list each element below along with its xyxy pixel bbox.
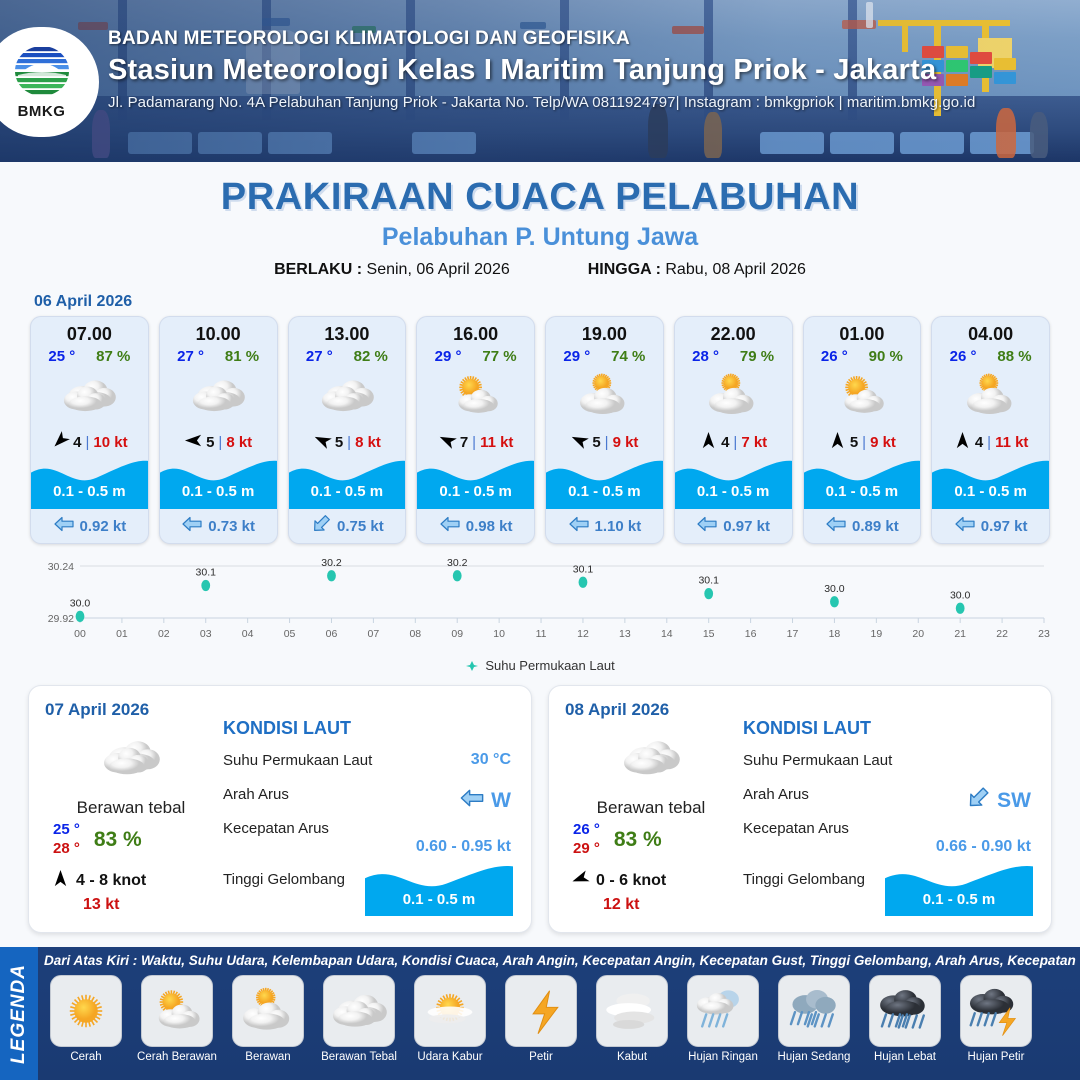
svg-text:20: 20 bbox=[912, 628, 924, 640]
daily-panel[interactable]: 08 April 2026 Berawan tebal 26 ° bbox=[548, 685, 1052, 933]
page-header: BMKG BADAN METEOROLOGI KLIMATOLOGI DAN G… bbox=[0, 0, 1080, 162]
card-temperature: 27 ° bbox=[177, 348, 204, 365]
legend-icon-kabut bbox=[596, 975, 668, 1047]
legend-item: Hujan Petir bbox=[954, 975, 1038, 1080]
card-temperature: 29 ° bbox=[563, 348, 590, 365]
daily-temp-max: 28 ° bbox=[53, 840, 80, 859]
sst-value: 30 °C bbox=[471, 751, 511, 769]
current-direction-label: Arah Arus bbox=[223, 786, 289, 803]
card-wind-row: 5 | 8 kt bbox=[160, 427, 277, 457]
card-wind-row: 4 | 7 kt bbox=[675, 427, 792, 457]
card-wind-speed: 5 bbox=[850, 434, 858, 451]
card-wind-speed: 5 bbox=[206, 434, 214, 451]
card-wind-row: 5 | 9 kt bbox=[546, 427, 663, 457]
current-direction-arrow-icon bbox=[965, 785, 991, 816]
card-current-row: 0.75 kt bbox=[289, 509, 406, 543]
wind-direction-arrow-icon bbox=[51, 431, 70, 454]
legend-item-label: Hujan Lebat bbox=[874, 1051, 936, 1063]
card-gust: 8 kt bbox=[226, 434, 252, 451]
legend-icon-hujan-petir bbox=[960, 975, 1032, 1047]
card-wave-height: 0.1 - 0.5 m bbox=[675, 483, 792, 500]
daily-temp-range: 26 ° 29 ° bbox=[573, 821, 600, 859]
card-weather-icon-berawan bbox=[675, 365, 792, 427]
svg-text:15: 15 bbox=[703, 628, 715, 640]
sea-conditions-title: KONDISI LAUT bbox=[223, 718, 515, 739]
card-current-row: 1.10 kt bbox=[546, 509, 663, 543]
wind-direction-arrow-icon bbox=[953, 431, 972, 454]
wind-direction-arrow-icon bbox=[699, 431, 718, 454]
card-wave-height: 0.1 - 0.5 m bbox=[160, 483, 277, 500]
daily-date: 07 April 2026 bbox=[45, 700, 217, 720]
card-temperature: 29 ° bbox=[435, 348, 462, 365]
card-current-row: 0.73 kt bbox=[160, 509, 277, 543]
wind-direction-arrow-icon bbox=[313, 431, 332, 454]
daily-temp-group: 25 ° 28 ° 83 % bbox=[45, 821, 217, 859]
daily-humidity: 83 % bbox=[614, 828, 662, 852]
card-time: 19.00 bbox=[546, 317, 663, 345]
current-speed-value: 0.60 - 0.95 kt bbox=[416, 838, 511, 856]
current-speed-row: Kecepatan Arus 0.60 - 0.95 kt bbox=[223, 820, 515, 841]
card-wave-height: 0.1 - 0.5 m bbox=[417, 483, 534, 500]
wind-separator: | bbox=[347, 434, 351, 451]
legend-item: Hujan Sedang bbox=[772, 975, 856, 1080]
svg-text:06: 06 bbox=[326, 628, 338, 640]
legend-item-label: Hujan Sedang bbox=[778, 1051, 851, 1063]
legend-icon-petir bbox=[505, 975, 577, 1047]
daily-weather-icon-berawan-tebal bbox=[45, 728, 217, 788]
card-humidity: 90 % bbox=[869, 348, 903, 365]
current-speed-label: Kecepatan Arus bbox=[743, 820, 849, 837]
bmkg-logo-text: BMKG bbox=[18, 103, 66, 120]
svg-text:30.2: 30.2 bbox=[447, 557, 468, 569]
card-current-speed: 0.97 kt bbox=[981, 518, 1028, 535]
wind-separator: | bbox=[85, 434, 89, 451]
legend-item: Berawan Tebal bbox=[317, 975, 401, 1080]
card-wave-height: 0.1 - 0.5 m bbox=[932, 483, 1049, 500]
legend-item-label: Berawan bbox=[245, 1051, 290, 1063]
forecast-card[interactable]: 07.00 25 ° 87 % 4 bbox=[30, 316, 149, 544]
forecast-date-label: 06 April 2026 bbox=[34, 293, 1080, 311]
svg-text:23: 23 bbox=[1038, 628, 1050, 640]
daily-wind-row: 4 - 8 knot bbox=[45, 869, 217, 893]
current-speed-label: Kecepatan Arus bbox=[223, 820, 329, 837]
wind-direction-arrow-icon bbox=[51, 869, 70, 893]
card-wave-block: 0.1 - 0.5 m bbox=[31, 457, 148, 509]
legend-item-label: Kabut bbox=[617, 1051, 647, 1063]
hingga-group: HINGGA : Rabu, 08 April 2026 bbox=[588, 261, 806, 279]
card-humidity: 82 % bbox=[354, 348, 388, 365]
daily-condition: Berawan tebal bbox=[45, 798, 217, 818]
legend-icon-list: Cerah Cerah Berawan bbox=[40, 975, 1080, 1080]
daily-condition: Berawan tebal bbox=[565, 798, 737, 818]
wind-separator: | bbox=[218, 434, 222, 451]
card-current-row: 0.98 kt bbox=[417, 509, 534, 543]
berlaku-label: BERLAKU : bbox=[274, 261, 362, 278]
svg-text:04: 04 bbox=[242, 628, 254, 640]
legend-note: Dari Atas Kiri : Waktu, Suhu Udara, Kele… bbox=[44, 953, 1076, 968]
card-temperature: 26 ° bbox=[950, 348, 977, 365]
svg-text:13: 13 bbox=[619, 628, 631, 640]
svg-text:30.0: 30.0 bbox=[70, 597, 91, 609]
card-weather-icon-berawan-tebal bbox=[160, 365, 277, 427]
svg-text:29.92: 29.92 bbox=[48, 613, 74, 625]
card-wind-speed: 7 bbox=[460, 434, 468, 451]
card-time: 10.00 bbox=[160, 317, 277, 345]
card-weather-icon-cerah-berawan bbox=[804, 365, 921, 427]
svg-text:00: 00 bbox=[74, 628, 86, 640]
card-wind-row: 4 | 11 kt bbox=[932, 427, 1049, 457]
current-direction-arrow-icon bbox=[825, 513, 847, 539]
svg-text:30.2: 30.2 bbox=[321, 557, 342, 569]
card-time: 16.00 bbox=[417, 317, 534, 345]
card-gust: 10 kt bbox=[93, 434, 127, 451]
card-wind-row: 5 | 8 kt bbox=[289, 427, 406, 457]
hingga-value: Rabu, 08 April 2026 bbox=[665, 261, 806, 278]
card-temp-humidity: 29 ° 77 % bbox=[417, 345, 534, 365]
daily-gust: 13 kt bbox=[45, 896, 217, 914]
card-temp-humidity: 28 ° 79 % bbox=[675, 345, 792, 365]
legend-item: Hujan Ringan bbox=[681, 975, 765, 1080]
card-weather-icon-berawan bbox=[932, 365, 1049, 427]
card-time: 01.00 bbox=[804, 317, 921, 345]
card-wind-speed: 4 bbox=[721, 434, 729, 451]
wind-separator: | bbox=[472, 434, 476, 451]
chart-legend: Suhu Permukaan Laut bbox=[0, 658, 1080, 673]
wind-separator: | bbox=[987, 434, 991, 451]
card-wave-block: 0.1 - 0.5 m bbox=[932, 457, 1049, 509]
current-speed-row: Kecepatan Arus 0.66 - 0.90 kt bbox=[743, 820, 1035, 841]
card-wave-block: 0.1 - 0.5 m bbox=[804, 457, 921, 509]
svg-text:12: 12 bbox=[577, 628, 589, 640]
legend-item: Udara Kabur bbox=[408, 975, 492, 1080]
legend-item-label: Petir bbox=[529, 1051, 553, 1063]
svg-text:16: 16 bbox=[745, 628, 757, 640]
card-temp-humidity: 26 ° 90 % bbox=[804, 345, 921, 365]
sst-row: Suhu Permukaan Laut bbox=[743, 752, 1035, 773]
card-current-row: 0.97 kt bbox=[932, 509, 1049, 543]
current-direction-arrow-icon bbox=[53, 513, 75, 539]
daily-temp-max: 29 ° bbox=[573, 840, 600, 859]
wind-separator: | bbox=[605, 434, 609, 451]
daily-date: 08 April 2026 bbox=[565, 700, 737, 720]
card-weather-icon-berawan bbox=[546, 365, 663, 427]
current-direction-row: Arah Arus SW bbox=[743, 786, 1035, 807]
agency-name: BADAN METEOROLOGI KLIMATOLOGI DAN GEOFIS… bbox=[108, 28, 1068, 50]
card-gust: 9 kt bbox=[613, 434, 639, 451]
wind-direction-arrow-icon bbox=[438, 431, 457, 454]
card-gust: 11 kt bbox=[995, 434, 1028, 451]
card-gust: 8 kt bbox=[355, 434, 381, 451]
svg-text:07: 07 bbox=[368, 628, 380, 640]
card-time: 07.00 bbox=[31, 317, 148, 345]
wave-height-label: Tinggi Gelombang bbox=[223, 871, 345, 888]
card-humidity: 74 % bbox=[611, 348, 645, 365]
wind-direction-arrow-icon bbox=[828, 431, 847, 454]
wind-direction-arrow-icon bbox=[570, 431, 589, 454]
card-current-speed: 0.97 kt bbox=[723, 518, 770, 535]
daily-humidity: 83 % bbox=[94, 828, 142, 852]
svg-text:18: 18 bbox=[829, 628, 841, 640]
card-wave-block: 0.1 - 0.5 m bbox=[289, 457, 406, 509]
sea-conditions-title: KONDISI LAUT bbox=[743, 718, 1035, 739]
card-temp-humidity: 25 ° 87 % bbox=[31, 345, 148, 365]
card-wind-speed: 4 bbox=[73, 434, 81, 451]
page-subtitle: Pelabuhan P. Untung Jawa bbox=[0, 223, 1080, 252]
daily-wave-block: 0.1 - 0.5 m bbox=[885, 862, 1033, 916]
current-direction-value-group: SW bbox=[965, 785, 1031, 816]
card-wind-row: 7 | 11 kt bbox=[417, 427, 534, 457]
card-humidity: 77 % bbox=[482, 348, 516, 365]
legend-item: Cerah bbox=[44, 975, 128, 1080]
current-direction-arrow-icon bbox=[310, 513, 332, 539]
svg-text:03: 03 bbox=[200, 628, 212, 640]
station-address: Jl. Padamarang No. 4A Pelabuhan Tanjung … bbox=[108, 94, 1068, 111]
sst-chart: 30.2429.92000102030405060708091011121314… bbox=[28, 556, 1052, 654]
card-time: 13.00 bbox=[289, 317, 406, 345]
card-current-speed: 0.75 kt bbox=[337, 518, 384, 535]
card-time: 04.00 bbox=[932, 317, 1049, 345]
card-wave-height: 0.1 - 0.5 m bbox=[546, 483, 663, 500]
card-humidity: 87 % bbox=[96, 348, 130, 365]
current-direction-value: SW bbox=[997, 789, 1031, 813]
legend-icon-berawan bbox=[232, 975, 304, 1047]
daily-temp-range: 25 ° 28 ° bbox=[53, 821, 80, 859]
legend-icon-udara-kabur bbox=[414, 975, 486, 1047]
card-weather-icon-berawan-tebal bbox=[31, 365, 148, 427]
card-current-row: 0.89 kt bbox=[804, 509, 921, 543]
daily-weather-icon-berawan-tebal bbox=[565, 728, 737, 788]
card-humidity: 81 % bbox=[225, 348, 259, 365]
svg-text:17: 17 bbox=[787, 628, 799, 640]
daily-panel[interactable]: 07 April 2026 Berawan tebal 25 ° bbox=[28, 685, 532, 933]
legend-item: Hujan Lebat bbox=[863, 975, 947, 1080]
current-direction-value: W bbox=[491, 789, 511, 813]
daily-sea-conditions: KONDISI LAUT Suhu Permukaan Laut Arah Ar… bbox=[737, 700, 1035, 920]
legend-item-label: Cerah Berawan bbox=[137, 1051, 217, 1063]
wind-direction-arrow-icon bbox=[184, 431, 203, 454]
card-gust: 11 kt bbox=[480, 434, 513, 451]
card-wave-block: 0.1 - 0.5 m bbox=[675, 457, 792, 509]
card-temp-humidity: 29 ° 74 % bbox=[546, 345, 663, 365]
sst-legend-marker-icon bbox=[465, 660, 479, 672]
svg-text:02: 02 bbox=[158, 628, 170, 640]
legend-item: Berawan bbox=[226, 975, 310, 1080]
current-direction-arrow-icon bbox=[439, 513, 461, 539]
card-temperature: 27 ° bbox=[306, 348, 333, 365]
card-gust: 7 kt bbox=[741, 434, 767, 451]
card-temp-humidity: 26 ° 88 % bbox=[932, 345, 1049, 365]
svg-text:21: 21 bbox=[954, 628, 966, 640]
legend-item-label: Hujan Ringan bbox=[688, 1051, 758, 1063]
card-weather-icon-berawan-tebal bbox=[289, 365, 406, 427]
forecast-card[interactable]: 16.00 29 ° 77 % 7 | 11 kt bbox=[416, 316, 535, 544]
card-humidity: 88 % bbox=[997, 348, 1031, 365]
legend-icon-hujan-sedang bbox=[778, 975, 850, 1047]
current-direction-arrow-icon bbox=[696, 513, 718, 539]
card-wind-speed: 4 bbox=[975, 434, 983, 451]
card-wave-block: 0.1 - 0.5 m bbox=[417, 457, 534, 509]
sst-row: Suhu Permukaan Laut 30 °C bbox=[223, 752, 515, 773]
berlaku-group: BERLAKU : Senin, 06 April 2026 bbox=[274, 261, 510, 279]
svg-text:10: 10 bbox=[493, 628, 505, 640]
svg-text:30.1: 30.1 bbox=[698, 575, 719, 587]
card-current-speed: 0.98 kt bbox=[466, 518, 513, 535]
card-wind-speed: 5 bbox=[592, 434, 600, 451]
wave-height-label: Tinggi Gelombang bbox=[743, 871, 865, 888]
legend-icon-hujan-ringan bbox=[687, 975, 759, 1047]
current-direction-arrow-icon bbox=[459, 785, 485, 816]
card-wind-speed: 5 bbox=[335, 434, 343, 451]
card-time: 22.00 bbox=[675, 317, 792, 345]
header-text-block: BADAN METEOROLOGI KLIMATOLOGI DAN GEOFIS… bbox=[108, 28, 1068, 111]
legend-icon-cerah-berawan bbox=[141, 975, 213, 1047]
card-temp-humidity: 27 ° 81 % bbox=[160, 345, 277, 365]
card-humidity: 79 % bbox=[740, 348, 774, 365]
svg-text:08: 08 bbox=[409, 628, 421, 640]
svg-text:19: 19 bbox=[871, 628, 883, 640]
sst-chart-svg: 30.2429.92000102030405060708091011121314… bbox=[28, 556, 1052, 648]
daily-wind-row: 0 - 6 knot bbox=[565, 869, 737, 893]
svg-text:30.24: 30.24 bbox=[48, 561, 74, 573]
sst-label: Suhu Permukaan Laut bbox=[223, 752, 372, 769]
forecast-card[interactable]: 01.00 26 ° 90 % 5 | 9 kt bbox=[803, 316, 922, 544]
card-current-speed: 0.92 kt bbox=[80, 518, 127, 535]
current-direction-label: Arah Arus bbox=[743, 786, 809, 803]
daily-wave-value: 0.1 - 0.5 m bbox=[365, 891, 513, 908]
legend-item-label: Udara Kabur bbox=[417, 1051, 482, 1063]
daily-wind-range: 0 - 6 knot bbox=[596, 872, 666, 890]
daily-wave-block: 0.1 - 0.5 m bbox=[365, 862, 513, 916]
wind-direction-arrow-icon bbox=[571, 869, 590, 893]
daily-wave-value: 0.1 - 0.5 m bbox=[885, 891, 1033, 908]
page-title: PRAKIRAAN CUACA PELABUHAN bbox=[0, 176, 1080, 219]
forecast-card[interactable]: 10.00 27 ° 81 % 5 bbox=[159, 316, 278, 544]
legend-item-label: Berawan Tebal bbox=[321, 1051, 397, 1063]
bmkg-logo-mark bbox=[12, 45, 72, 101]
card-temperature: 25 ° bbox=[48, 348, 75, 365]
legend-item-label: Cerah bbox=[70, 1051, 101, 1063]
card-gust: 9 kt bbox=[870, 434, 896, 451]
card-wind-row: 4 | 10 kt bbox=[31, 427, 148, 457]
chart-legend-label: Suhu Permukaan Laut bbox=[485, 658, 614, 673]
hourly-forecast-row: 07.00 25 ° 87 % 4 bbox=[0, 316, 1080, 544]
station-name: Stasiun Meteorologi Kelas I Maritim Tanj… bbox=[108, 54, 1068, 87]
svg-text:30.0: 30.0 bbox=[950, 589, 971, 601]
card-wave-height: 0.1 - 0.5 m bbox=[31, 483, 148, 500]
legend-item: Kabut bbox=[590, 975, 674, 1080]
card-wave-height: 0.1 - 0.5 m bbox=[804, 483, 921, 500]
current-direction-arrow-icon bbox=[954, 513, 976, 539]
legend-item: Petir bbox=[499, 975, 583, 1080]
current-speed-value: 0.66 - 0.90 kt bbox=[936, 838, 1031, 856]
forecast-card[interactable]: 19.00 29 ° 74 % 5 | 9 kt bbox=[545, 316, 664, 544]
legend-side-text: LEGENDA bbox=[8, 964, 30, 1064]
hingga-label: HINGGA : bbox=[588, 261, 661, 278]
svg-text:30.1: 30.1 bbox=[573, 563, 594, 575]
legend-icon-cerah bbox=[50, 975, 122, 1047]
daily-temp-group: 26 ° 29 ° 83 % bbox=[565, 821, 737, 859]
forecast-card[interactable]: 04.00 26 ° 88 % 4 | 11 kt bbox=[931, 316, 1050, 544]
card-temperature: 28 ° bbox=[692, 348, 719, 365]
forecast-card[interactable]: 13.00 27 ° 82 % 5 bbox=[288, 316, 407, 544]
current-direction-row: Arah Arus W bbox=[223, 786, 515, 807]
wind-separator: | bbox=[862, 434, 866, 451]
svg-text:11: 11 bbox=[536, 628, 547, 640]
card-current-speed: 0.89 kt bbox=[852, 518, 899, 535]
wind-separator: | bbox=[733, 434, 737, 451]
daily-gust: 12 kt bbox=[565, 896, 737, 914]
validity-row: BERLAKU : Senin, 06 April 2026 HINGGA : … bbox=[0, 261, 1080, 279]
card-temperature: 26 ° bbox=[821, 348, 848, 365]
card-temp-humidity: 27 ° 82 % bbox=[289, 345, 406, 365]
card-current-speed: 1.10 kt bbox=[595, 518, 642, 535]
card-wave-height: 0.1 - 0.5 m bbox=[289, 483, 406, 500]
berlaku-value: Senin, 06 April 2026 bbox=[367, 261, 510, 278]
sst-label: Suhu Permukaan Laut bbox=[743, 752, 892, 769]
current-direction-value-group: W bbox=[459, 785, 511, 816]
current-direction-arrow-icon bbox=[181, 513, 203, 539]
forecast-card[interactable]: 22.00 28 ° 79 % 4 | 7 kt bbox=[674, 316, 793, 544]
svg-text:30.1: 30.1 bbox=[196, 567, 217, 579]
legend-icon-berawan-tebal bbox=[323, 975, 395, 1047]
daily-temp-min: 25 ° bbox=[53, 821, 80, 840]
svg-text:30.0: 30.0 bbox=[824, 583, 845, 595]
card-wave-block: 0.1 - 0.5 m bbox=[160, 457, 277, 509]
legend-side-label: LEGENDA bbox=[0, 947, 38, 1080]
daily-panel-left: 08 April 2026 Berawan tebal 26 ° bbox=[565, 700, 737, 920]
svg-text:09: 09 bbox=[451, 628, 463, 640]
daily-sea-conditions: KONDISI LAUT Suhu Permukaan Laut 30 °C A… bbox=[217, 700, 515, 920]
daily-wind-range: 4 - 8 knot bbox=[76, 872, 146, 890]
svg-text:05: 05 bbox=[284, 628, 296, 640]
legend-bar: LEGENDA Dari Atas Kiri : Waktu, Suhu Uda… bbox=[0, 947, 1080, 1080]
legend-item-label: Hujan Petir bbox=[968, 1051, 1025, 1063]
daily-temp-min: 26 ° bbox=[573, 821, 600, 840]
card-current-row: 0.92 kt bbox=[31, 509, 148, 543]
daily-panel-left: 07 April 2026 Berawan tebal 25 ° bbox=[45, 700, 217, 920]
legend-item: Cerah Berawan bbox=[135, 975, 219, 1080]
card-weather-icon-cerah-berawan bbox=[417, 365, 534, 427]
svg-text:14: 14 bbox=[661, 628, 673, 640]
svg-text:22: 22 bbox=[996, 628, 1008, 640]
card-current-row: 0.97 kt bbox=[675, 509, 792, 543]
card-wave-block: 0.1 - 0.5 m bbox=[546, 457, 663, 509]
current-direction-arrow-icon bbox=[568, 513, 590, 539]
legend-icon-hujan-lebat bbox=[869, 975, 941, 1047]
svg-text:01: 01 bbox=[116, 628, 128, 640]
card-wind-row: 5 | 9 kt bbox=[804, 427, 921, 457]
daily-forecast-row: 07 April 2026 Berawan tebal 25 ° bbox=[0, 673, 1080, 933]
card-current-speed: 0.73 kt bbox=[208, 518, 255, 535]
